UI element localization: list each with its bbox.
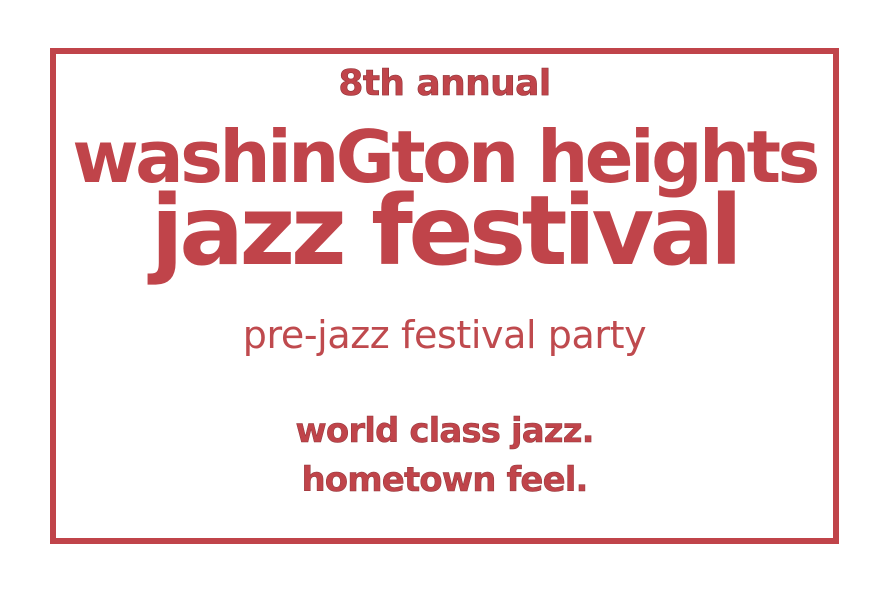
poster-content: 8th annual washinGton heights jazz festi… — [0, 0, 889, 593]
poster-title-line-2: jazz festival — [0, 183, 889, 279]
poster-tagline-line-1: world class jazz. — [0, 414, 889, 448]
poster-tagline-line-2: hometown feel. — [0, 463, 889, 497]
poster-eyebrow-text: 8th annual — [0, 66, 889, 102]
poster-canvas: 8th annual washinGton heights jazz festi… — [0, 0, 889, 593]
poster-subtitle: pre-jazz festival party — [0, 316, 889, 354]
